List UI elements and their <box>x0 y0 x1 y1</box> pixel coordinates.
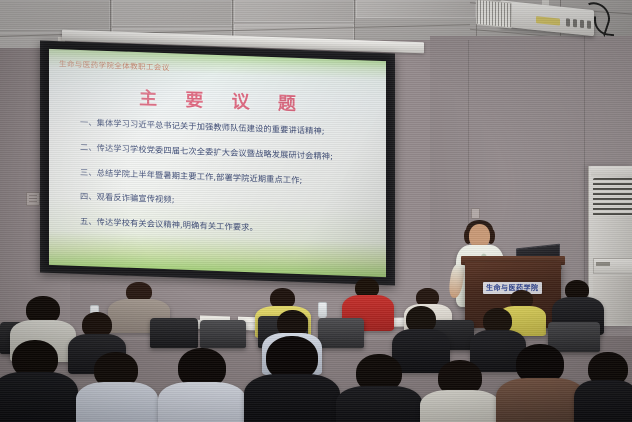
agenda-item: 二、传达学习学校党委四届七次全委扩大会议暨战略发展研讨会精神; <box>80 143 376 162</box>
ac-brand-badge <box>596 262 610 266</box>
audience-person <box>0 340 78 422</box>
ac-top-cover <box>591 166 632 176</box>
agenda-item: 五、传达学校有关会议精神,明确有关工作要求。 <box>80 217 376 236</box>
audience-person <box>76 352 158 422</box>
projector-label <box>536 16 560 26</box>
audience-person <box>496 344 586 422</box>
agenda-item: 一、集体学习习近平总书记关于加强教师队伍建设的重要讲话精神; <box>80 118 376 137</box>
projector-vent-icon <box>476 0 512 29</box>
slide-title: 主 要 议 题 <box>49 81 386 119</box>
audience-chair <box>150 318 198 348</box>
projection-screen: 生命与医药学院全体教职工会议 主 要 议 题 一、集体学习习近平总书记关于加强教… <box>40 40 395 285</box>
ac-control-panel <box>593 258 632 274</box>
presentation-slide: 生命与医药学院全体教职工会议 主 要 议 题 一、集体学习习近平总书记关于加强教… <box>49 49 386 277</box>
slide-header-text: 生命与医药学院全体教职工会议 <box>59 58 170 73</box>
audience-person <box>336 354 422 422</box>
slide-agenda-list: 一、集体学习习近平总书记关于加强教师队伍建设的重要讲话精神; 二、传达学习学校党… <box>80 118 376 253</box>
screen-glare <box>49 49 386 277</box>
audience-person <box>574 352 632 422</box>
wall-outlet-plate <box>26 192 40 206</box>
wall-switch-plate <box>471 208 480 219</box>
audience-person <box>158 348 246 422</box>
audience-person <box>420 360 500 422</box>
audience-person <box>244 336 340 422</box>
lecture-room-photo: 生命与医药学院全体教职工会议 主 要 议 题 一、集体学习习近平总书记关于加强教… <box>0 0 632 422</box>
agenda-item: 三、总结学院上半年暨暑期主要工作,部署学院近期重点工作; <box>80 168 376 187</box>
agenda-item: 四、观看反诈骗宣传视频; <box>80 192 376 211</box>
audience-chair <box>200 320 246 348</box>
ac-louver-grille-icon <box>593 178 632 216</box>
